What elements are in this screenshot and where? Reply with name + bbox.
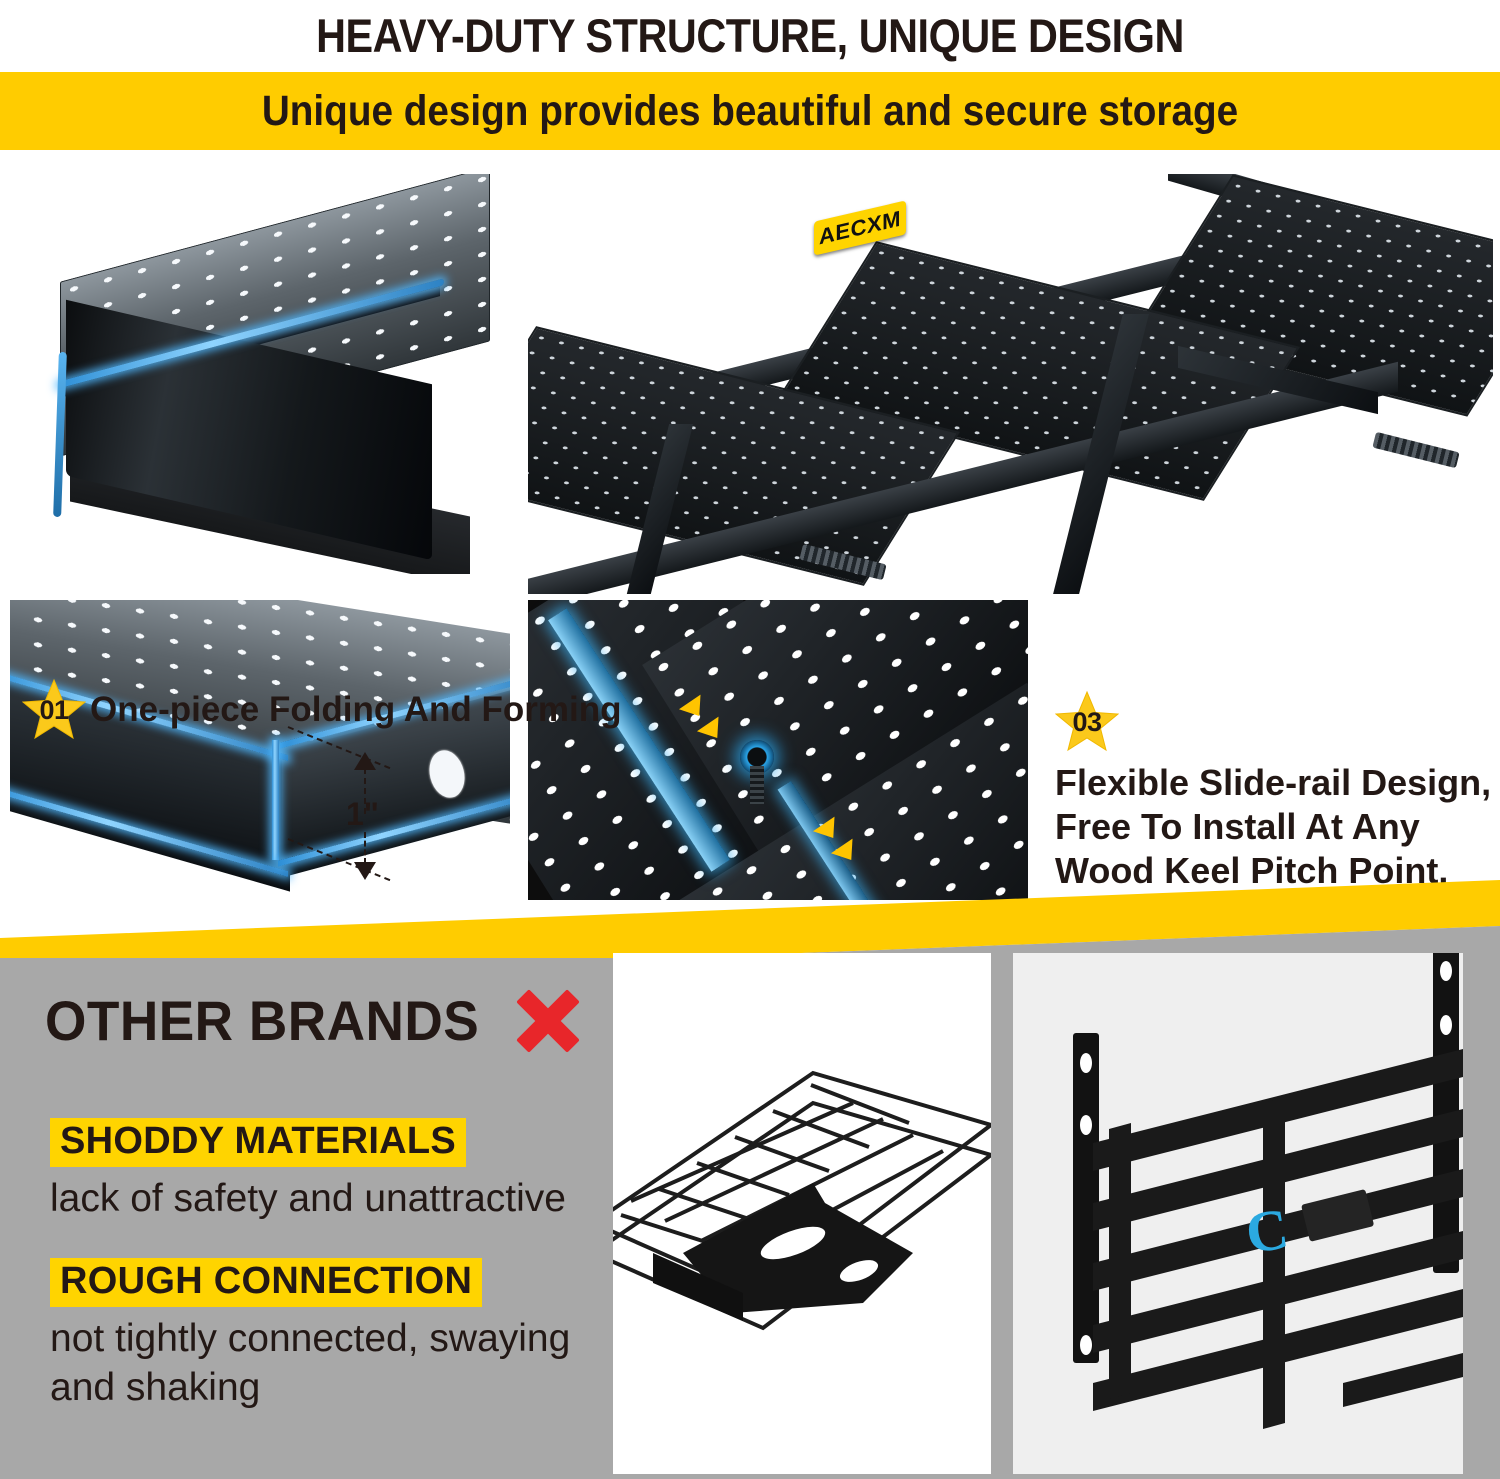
- feature-caption-01: 01 One-piece Folding And Forming: [22, 678, 621, 742]
- comparison-item-2-detail: not tightly connected, swaying and shaki…: [50, 1315, 610, 1413]
- red-x-icon: [516, 989, 580, 1053]
- star-badge-03: 03: [1055, 690, 1119, 754]
- feature-label-01: One-piece Folding And Forming: [90, 690, 621, 730]
- photo-slide-rail-detail: [528, 600, 1028, 900]
- page-subtitle: Unique design provides beautiful and sec…: [75, 72, 1425, 150]
- blue-highlight-hook-icon: C: [1242, 1196, 1293, 1266]
- photo-frame-corner: 1": [10, 600, 510, 900]
- bolt-thread: [750, 766, 764, 804]
- star-badge-number: 01: [22, 678, 86, 742]
- photo-competitor-wire-shelf: [613, 953, 991, 1474]
- comparison-item-1-title: SHODDY MATERIALS: [50, 1118, 466, 1167]
- page-title: HEAVY-DUTY STRUCTURE, UNIQUE DESIGN: [90, 2, 1410, 68]
- comparison-item-1: SHODDY MATERIALS lack of safety and unat…: [50, 1118, 590, 1224]
- infographic-page: HEAVY-DUTY STRUCTURE, UNIQUE DESIGN Uniq…: [0, 0, 1500, 1479]
- photo-main-shelf: AECXM: [528, 174, 1493, 594]
- photo-c-channel-profile: [10, 174, 510, 574]
- bracket-joint: [1301, 1189, 1374, 1242]
- comparison-item-1-detail: lack of safety and unattractive: [50, 1175, 590, 1224]
- dimension-arrow-down: [354, 862, 376, 880]
- feature-label-03: Flexible Slide-rail Design, Free To Inst…: [1055, 761, 1495, 893]
- comparison-item-2-title: ROUGH CONNECTION: [50, 1258, 482, 1307]
- comparison-item-2: ROUGH CONNECTION not tightly connected, …: [50, 1258, 610, 1413]
- thickness-label: 1": [346, 796, 379, 833]
- photo-competitor-bar-shelf: C: [1013, 953, 1463, 1474]
- star-badge-01: 01: [22, 678, 86, 742]
- comparison-heading: OTHER BRANDS: [45, 988, 479, 1053]
- comparison-heading-row: OTHER BRANDS: [45, 988, 580, 1053]
- star-badge-number: 03: [1055, 690, 1119, 754]
- feature-caption-03: 03 Flexible Slide-rail Design, Free To I…: [1055, 690, 1495, 893]
